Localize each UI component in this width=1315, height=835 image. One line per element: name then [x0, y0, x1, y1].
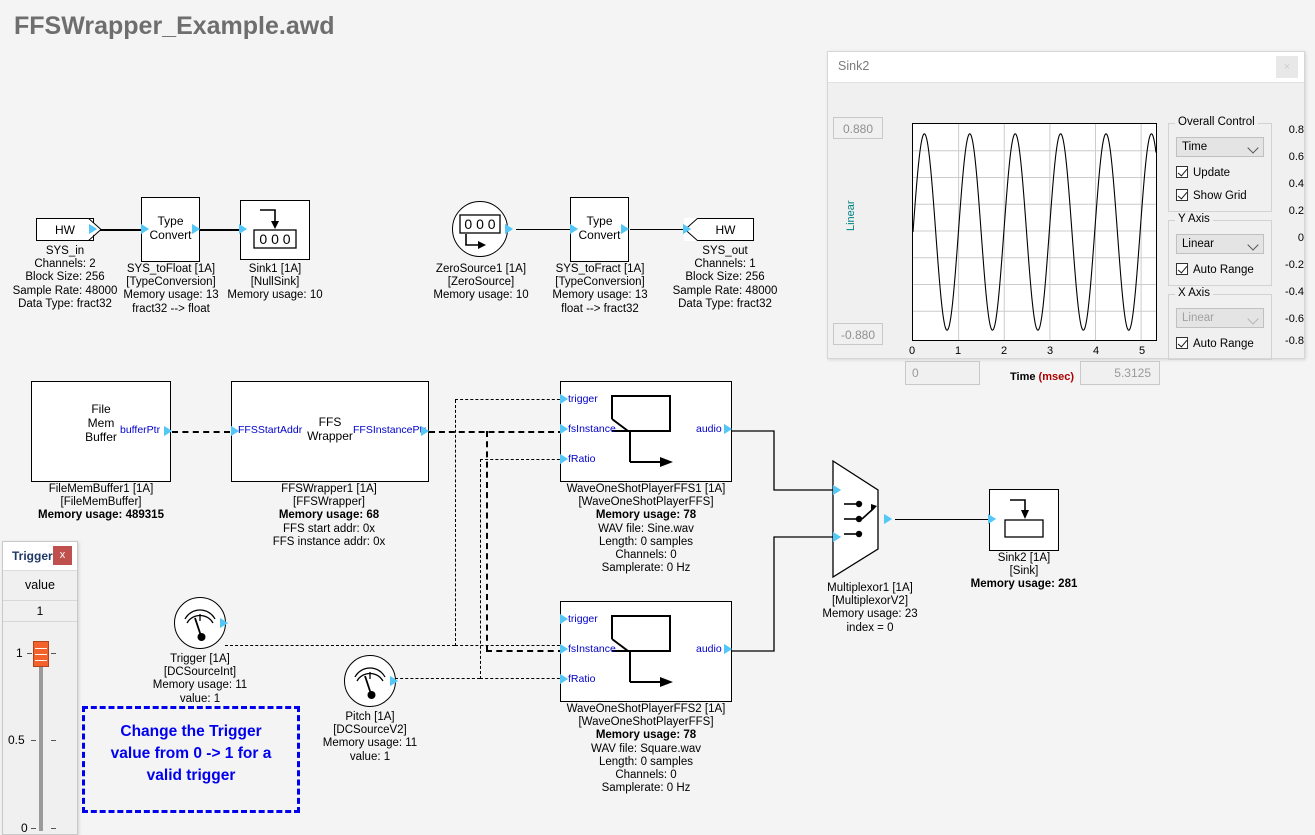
sys-out-tag-label: HW: [698, 223, 753, 237]
update-checkbox-label: Update: [1193, 167, 1230, 179]
sys-out-sample-rate: Sample Rate: 48000: [655, 285, 795, 298]
ffswrapper1-instance-addr: FFS instance addr: 0x: [230, 536, 428, 549]
waveplayer1-fsinstance-port[interactable]: [560, 424, 568, 434]
filemembuffer1-out-port[interactable]: [164, 426, 172, 436]
wire-pitch-h3: [480, 678, 565, 679]
wire-buffer-ffsstart: [172, 431, 230, 433]
trigger-source-name: Trigger [1A]: [130, 653, 270, 666]
x-range-max-input[interactable]: 5.3125: [1080, 361, 1160, 385]
caption-trigger-source: Trigger [1A] [DCSourceInt] Memory usage:…: [130, 653, 270, 706]
waveplayer1-type: [WaveOneShotPlayerFFS]: [545, 496, 747, 509]
waveplayer2-wav: WAV file: Square.wav: [545, 743, 747, 756]
y-axis-label: Linear: [845, 200, 857, 231]
wire-pitch-v: [480, 459, 481, 679]
x-auto-range-checkbox[interactable]: Auto Range: [1176, 337, 1264, 351]
pitch-source-type: [DCSourceV2]: [300, 724, 440, 737]
y-axis-group: Y Axis Linear Auto Range: [1168, 220, 1272, 286]
x-tick-3: 3: [1035, 345, 1065, 357]
trigger-slider[interactable]: 1 0.5 0: [3, 621, 77, 834]
annotation-note[interactable]: Change the Trigger value from 0 -> 1 for…: [82, 706, 300, 813]
ffswrapper1-name: FFSWrapper1 [1A]: [230, 483, 428, 496]
wire-tofloat-sink1: [200, 229, 240, 231]
wire-pitch-h1: [395, 678, 480, 679]
show-grid-checkbox-label: Show Grid: [1193, 190, 1247, 202]
sink2-in-port[interactable]: [988, 514, 996, 524]
multiplexor1-out-port[interactable]: [884, 514, 892, 524]
wire-ffsinst-main: [429, 431, 564, 433]
sink2-plot-window[interactable]: Sink2 × 0.880 -0.880 Linear 0.8 0.6 0.4 …: [827, 51, 1305, 359]
overall-mode-select[interactable]: Time: [1176, 137, 1264, 157]
sink1-glyph: 0 0 0: [240, 200, 310, 260]
waveplayer2-trigger-label: trigger: [568, 613, 598, 625]
block-sys-in[interactable]: HW: [36, 218, 94, 241]
x-axis-scale-select[interactable]: Linear: [1176, 308, 1264, 328]
waveplayer1-fratio-label: fRatio: [568, 453, 595, 465]
x-tick-1: 1: [943, 345, 973, 357]
waveplayer1-fsinstance-label: fsInstance: [568, 423, 616, 435]
waveplayer1-trigger-port[interactable]: [560, 394, 568, 404]
caption-waveplayer1: WaveOneShotPlayerFFS1 [1A] [WaveOneShotP…: [545, 483, 747, 575]
close-icon[interactable]: x: [53, 546, 72, 565]
sys-in-name: SYS_in: [0, 245, 135, 258]
sink2-name: Sink2 [1A]: [954, 552, 1094, 565]
waveplayer1-length: Length: 0 samples: [545, 536, 747, 549]
sys-tofract-type: [TypeConversion]: [529, 276, 671, 289]
y-max-value-box[interactable]: 0.880: [833, 117, 883, 139]
wire-mux-sink2: [895, 519, 989, 520]
waveplayer1-samplerate: Samplerate: 0 Hz: [545, 562, 747, 575]
waveplayer2-samplerate: Samplerate: 0 Hz: [545, 782, 747, 795]
multiplexor1-name: Multiplexor1 [1A]: [800, 582, 940, 595]
svg-text:0 0 0: 0 0 0: [464, 216, 495, 232]
filemembuffer1-memory: Memory usage: 489315: [38, 509, 164, 521]
caption-sink2: Sink2 [1A] [Sink] Memory usage: 281: [954, 552, 1094, 592]
filemembuffer1-type: [FileMemBuffer]: [31, 496, 171, 509]
slider-thumb[interactable]: [33, 641, 49, 667]
overall-control-group: Overall Control Time Update Show Grid: [1168, 123, 1272, 212]
pitch-source-out-port[interactable]: [390, 676, 398, 686]
ffswrapper1-out-port-label: FFSInstancePtr: [353, 424, 426, 436]
page-title: FFSWrapper_Example.awd: [14, 12, 334, 41]
sys-out-name: SYS_out: [655, 245, 795, 258]
sys-tofract-out-port[interactable]: [621, 224, 629, 234]
waveplayer2-fsinstance-label: fsInstance: [568, 643, 616, 655]
sys-tofract-conv: float --> fract32: [529, 303, 671, 316]
sys-tofloat-out-port[interactable]: [192, 224, 200, 234]
waveplayer2-type: [WaveOneShotPlayerFFS]: [545, 716, 747, 729]
x-tick-2: 2: [989, 345, 1019, 357]
waveplayer2-channels: Channels: 0: [545, 769, 747, 782]
wire-ffsinst-down: [486, 431, 488, 651]
sys-tofract-memory: Memory usage: 13: [529, 289, 671, 302]
sink2-type: [Sink]: [954, 565, 1094, 578]
wire-trigger-h1: [225, 645, 455, 646]
y-axis-legend: Y Axis: [1175, 213, 1213, 225]
caption-sink1: Sink1 [1A] [NullSink] Memory usage: 10: [205, 263, 345, 303]
waveplayer1-audio-label: audio: [696, 423, 722, 435]
sys-out-in-port[interactable]: [683, 224, 691, 234]
slider-track[interactable]: [39, 649, 43, 831]
waveplayer1-wav: WAV file: Sine.wav: [545, 523, 747, 536]
overall-control-legend: Overall Control: [1175, 116, 1258, 128]
pitch-source-name: Pitch [1A]: [300, 711, 440, 724]
trigger-source-memory: Memory usage: 11: [130, 679, 270, 692]
filemembuffer1-glyph: File Mem Buffer: [31, 402, 171, 444]
ffswrapper1-out-port[interactable]: [421, 426, 429, 436]
plot-canvas[interactable]: [912, 123, 1157, 341]
note-line-2: value from 0 -> 1 for a: [85, 743, 297, 765]
waveplayer2-trigger-port[interactable]: [560, 614, 568, 624]
sys-in-out-port[interactable]: [89, 224, 97, 234]
trigger-value-readout[interactable]: 1: [3, 601, 77, 622]
x-axis-label: Time (msec): [1010, 371, 1074, 383]
caption-waveplayer2: WaveOneShotPlayerFFS2 [1A] [WaveOneShotP…: [545, 703, 747, 795]
sys-tofloat-in-port[interactable]: [141, 224, 149, 234]
wire-tofract-sysout: [630, 229, 685, 230]
block-sys-out[interactable]: HW: [697, 218, 754, 241]
waveplayer1-trigger-label: trigger: [568, 393, 598, 405]
caption-sys-tofract: SYS_toFract [1A] [TypeConversion] Memory…: [529, 263, 671, 316]
wire-ffsinst-wave2: [486, 650, 564, 652]
trigger-panel[interactable]: Trigger x value 1 1 0.5 0: [2, 541, 78, 835]
sys-out-channels: Channels: 1: [655, 258, 795, 271]
x-axis-legend: X Axis: [1175, 287, 1213, 299]
zerosource1-out-port[interactable]: [505, 224, 513, 234]
y-auto-range-label: Auto Range: [1193, 264, 1254, 276]
sys-tofloat-conv: fract32 --> float: [100, 303, 242, 316]
checkbox-icon: [1176, 263, 1188, 275]
filemembuffer1-out-port-label: bufferPtr: [120, 424, 160, 436]
sys-out-data-type: Data Type: fract32: [655, 298, 795, 311]
x-tick-5: 5: [1127, 345, 1157, 357]
trigger-panel-title: Trigger: [12, 549, 53, 563]
waveplayer2-length: Length: 0 samples: [545, 756, 747, 769]
note-line-1: Change the Trigger: [85, 721, 297, 743]
trigger-source-value: value: 1: [130, 693, 270, 706]
checkbox-icon: [1176, 166, 1188, 178]
close-icon[interactable]: ×: [1276, 56, 1298, 78]
x-auto-range-label: Auto Range: [1193, 338, 1254, 350]
multiplexor1-memory: Memory usage: 23: [800, 608, 940, 621]
trigger-source-out-port[interactable]: [220, 618, 228, 628]
checkbox-icon: [1176, 189, 1188, 201]
ffswrapper1-in-port-label: FFSStartAddr: [238, 424, 302, 436]
checkbox-icon: [1176, 337, 1188, 349]
wire-trigger-v: [455, 400, 456, 646]
waveplayer1-channels: Channels: 0: [545, 549, 747, 562]
waveplayer2-fsinstance-port[interactable]: [560, 644, 568, 654]
caption-multiplexor1: Multiplexor1 [1A] [MultiplexorV2] Memory…: [800, 582, 940, 635]
x-tick-0: 0: [897, 345, 927, 357]
chevron-down-icon: [1247, 142, 1258, 153]
waveplayer2-memory: Memory usage: 78: [596, 729, 696, 741]
plot-controls: Overall Control Time Update Show Grid: [1168, 123, 1272, 368]
sink1-in-port[interactable]: [239, 224, 247, 234]
show-grid-checkbox[interactable]: Show Grid: [1176, 189, 1264, 203]
multiplexor1-in-port-1[interactable]: [833, 485, 841, 495]
multiplexor1-in-port-2[interactable]: [833, 532, 841, 542]
sink2-window-title: Sink2: [838, 59, 869, 73]
plot-area: 0.880 -0.880 Linear 0.8 0.6 0.4 0.2 0 -0…: [828, 83, 1304, 360]
x-axis-scale-value: Linear: [1182, 312, 1214, 324]
x-axis-label-text: Time (msec): [1010, 371, 1074, 383]
wire-trigger-h2: [455, 399, 565, 400]
sink1-name: Sink1 [1A]: [205, 263, 345, 276]
filemembuffer1-glyph-line1: File: [31, 402, 171, 416]
ffswrapper1-start-addr: FFS start addr: 0x: [230, 523, 428, 536]
pitch-source-value: value: 1: [300, 751, 440, 764]
pitch-source-gauge-icon: [344, 655, 396, 707]
note-line-3: valid trigger: [85, 765, 297, 787]
waveplayer2-fratio-port[interactable]: [560, 674, 568, 684]
x-range-min-input[interactable]: 0: [905, 361, 980, 385]
y-min-value-box[interactable]: -0.880: [833, 323, 883, 345]
caption-pitch-source: Pitch [1A] [DCSourceV2] Memory usage: 11…: [300, 711, 440, 764]
multiplexor1-type: [MultiplexorV2]: [800, 595, 940, 608]
caption-filemembuffer1: FileMemBuffer1 [1A] [FileMemBuffer] Memo…: [31, 483, 171, 523]
waveplayer2-fratio-label: fRatio: [568, 673, 595, 685]
slider-tick-label-1: 1: [16, 646, 23, 660]
overall-mode-value: Time: [1182, 141, 1207, 153]
ffswrapper1-memory: Memory usage: 68: [279, 509, 379, 521]
y-axis-scale-value: Linear: [1182, 238, 1214, 250]
chevron-down-icon: [1247, 313, 1258, 324]
multiplexor1-index: index = 0: [800, 622, 940, 635]
wire-sysin-tofloat: [100, 229, 143, 231]
update-checkbox[interactable]: Update: [1176, 166, 1264, 180]
caption-ffswrapper1: FFSWrapper1 [1A] [FFSWrapper] Memory usa…: [230, 483, 428, 549]
sys-tofract-name: SYS_toFract [1A]: [529, 263, 671, 276]
x-tick-4: 4: [1081, 345, 1111, 357]
waveplayer2-name: WaveOneShotPlayerFFS2 [1A]: [545, 703, 747, 716]
caption-sys-out: SYS_out Channels: 1 Block Size: 256 Samp…: [655, 245, 795, 311]
trigger-source-type: [DCSourceInt]: [130, 666, 270, 679]
y-auto-range-checkbox[interactable]: Auto Range: [1176, 263, 1264, 277]
wire-pitch-h2: [480, 459, 565, 460]
ffswrapper1-type: [FFSWrapper]: [230, 496, 428, 509]
waveplayer2-audio-label: audio: [696, 643, 722, 655]
sink2-glyph: [989, 489, 1059, 551]
diagram-canvas: FFSWrapper_Example.awd HW SYS_in Channel…: [0, 0, 1315, 835]
sys-in-tag-label: HW: [37, 223, 93, 237]
waveplayer1-memory: Memory usage: 78: [596, 509, 696, 521]
y-axis-scale-select[interactable]: Linear: [1176, 234, 1264, 254]
filemembuffer1-name: FileMemBuffer1 [1A]: [31, 483, 171, 496]
wire-trigger-h3: [455, 645, 565, 646]
sink2-titlebar[interactable]: Sink2 ×: [828, 52, 1304, 83]
trigger-value-label: value: [3, 571, 77, 601]
trigger-panel-titlebar: Trigger x: [3, 542, 77, 571]
sys-out-block-size: Block Size: 256: [655, 271, 795, 284]
slider-tick-label-0: 0: [21, 821, 28, 835]
chevron-down-icon: [1247, 239, 1258, 250]
wire-zero-tofract: [516, 229, 571, 230]
slider-tick-label-05: 0.5: [8, 733, 25, 747]
waveplayer1-fratio-port[interactable]: [560, 454, 568, 464]
sys-tofract-in-port[interactable]: [570, 224, 578, 234]
svg-text:0 0 0: 0 0 0: [259, 231, 290, 247]
waveplayer1-name: WaveOneShotPlayerFFS1 [1A]: [545, 483, 747, 496]
sink2-memory: Memory usage: 281: [971, 578, 1078, 590]
zerosource1-glyph: 0 0 0: [452, 201, 508, 257]
pitch-source-memory: Memory usage: 11: [300, 737, 440, 750]
sink1-type: [NullSink]: [205, 276, 345, 289]
sink1-memory: Memory usage: 10: [205, 289, 345, 302]
trigger-source-gauge-icon: [174, 597, 226, 649]
x-axis-group: X Axis Linear Auto Range: [1168, 294, 1272, 360]
